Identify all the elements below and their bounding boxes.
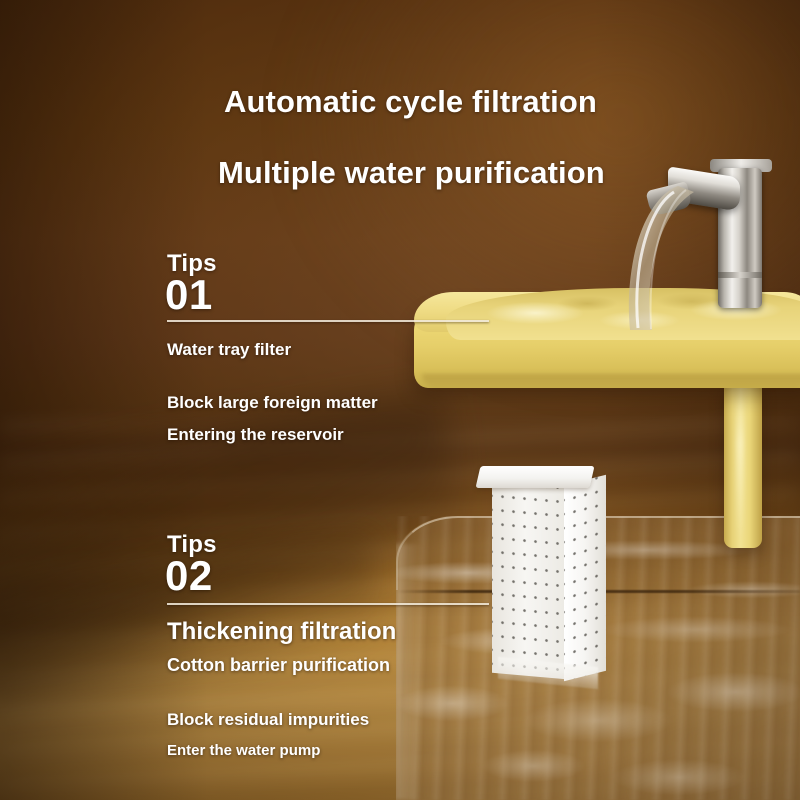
tips-01-title: Water tray filter xyxy=(167,340,291,360)
tips-02-divider xyxy=(167,603,489,605)
tips-02-title: Thickening filtration xyxy=(167,618,396,646)
headline-secondary: Multiple water purification xyxy=(218,155,605,191)
product-scene xyxy=(0,0,800,800)
product-feature-image: Automatic cycle filtration Multiple wate… xyxy=(0,0,800,800)
filter-side-face xyxy=(564,475,606,681)
filter-top-lid xyxy=(475,466,594,488)
tray-underside-shadow xyxy=(422,374,800,388)
filter-front-face xyxy=(492,481,566,679)
tips-01-divider xyxy=(167,320,489,322)
tips-02-detail-1: Block residual impurities xyxy=(167,710,369,730)
tips-02-number: 02 xyxy=(165,555,213,597)
water-stream xyxy=(616,182,706,332)
filter-perforations-side xyxy=(564,475,606,681)
column-highlight xyxy=(736,392,744,540)
filter-perforations-front xyxy=(492,481,566,679)
tips-01-detail-1: Block large foreign matter xyxy=(167,393,378,413)
tips-02-detail-2: Enter the water pump xyxy=(167,742,320,759)
tips-02-subtitle: Cotton barrier purification xyxy=(167,655,390,676)
white-filter-cartridge xyxy=(478,466,616,686)
tips-01-number: 01 xyxy=(165,274,213,316)
headline-primary: Automatic cycle filtration xyxy=(224,84,597,120)
faucet-joint-band xyxy=(718,272,762,278)
tips-01-detail-2: Entering the reservoir xyxy=(167,425,344,445)
